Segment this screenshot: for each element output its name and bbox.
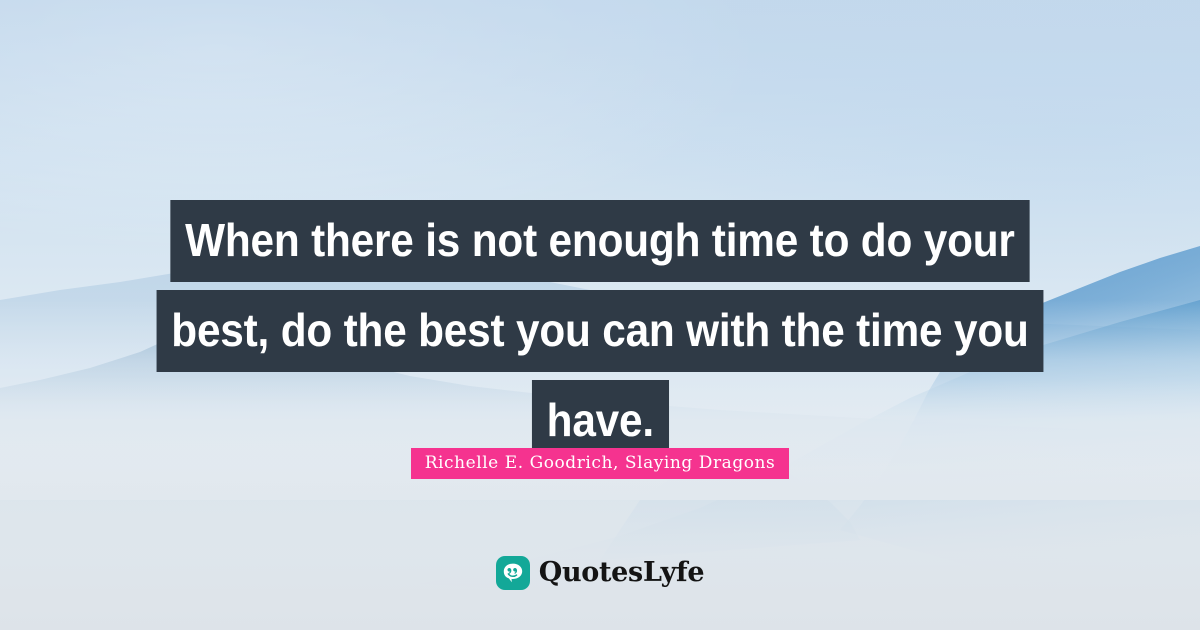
author-attribution-wrapper: Richelle E. Goodrich, Slaying Dragons — [0, 448, 1200, 479]
author-attribution-badge: Richelle E. Goodrich, Slaying Dragons — [411, 448, 790, 479]
quote-line: best, do the best you can with the time … — [0, 290, 1200, 372]
quote-line-1: When there is not enough time to do your — [170, 200, 1029, 282]
quote-line-2: best, do the best you can with the time … — [157, 290, 1044, 372]
quote-card: When there is not enough time to do your… — [0, 0, 1200, 630]
quote-text-block: When there is not enough time to do your… — [0, 200, 1200, 462]
quote-line: When there is not enough time to do your — [0, 200, 1200, 282]
fog-layer-top — [0, 0, 1200, 180]
quoteslyfe-wordmark: QuotesLyfe — [539, 556, 705, 590]
quoteslyfe-logo[interactable]: QuotesLyfe — [0, 556, 1200, 590]
quote-bubble-icon — [496, 556, 530, 590]
